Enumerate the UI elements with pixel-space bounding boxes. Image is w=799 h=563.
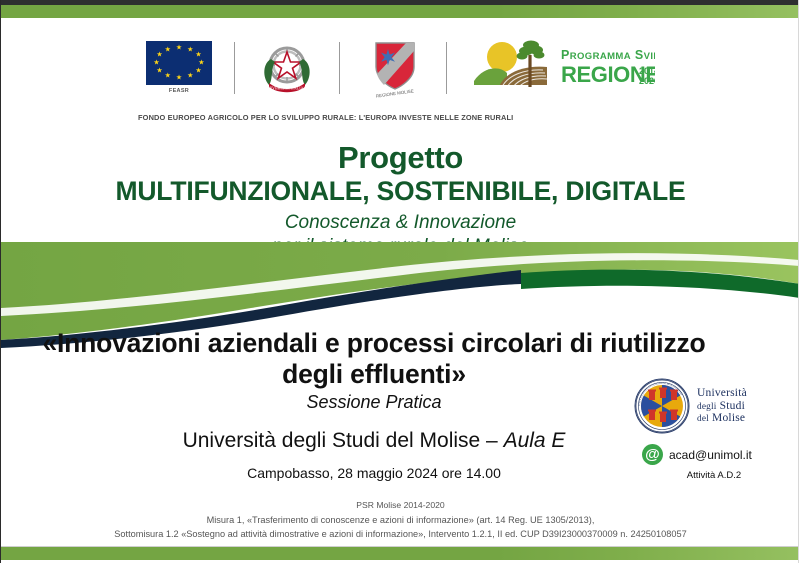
project-subtitle-line2: per il sistema rurale del Molise <box>1 236 799 258</box>
unimol-wordmark: Università degli Studi del Molise <box>697 387 747 426</box>
logo-divider-2 <box>339 42 340 94</box>
unimol-crest-icon: UNIVERSITAS STUDIORUM MOLISIENSIS <box>634 378 690 434</box>
footer-line-1: PSR Molise 2014-2020 <box>1 499 799 512</box>
poster-canvas: ★ ★ ★ ★ ★ ★ ★ ★ ★ ★ ★ ★ FEASR <box>0 0 799 563</box>
contact-email-row[interactable]: @ acad@unimol.it <box>642 444 784 465</box>
event-venue: Università degli Studi del Molise – Aula… <box>29 429 719 453</box>
institutional-logo-bar: ★ ★ ★ ★ ★ ★ ★ ★ ★ ★ ★ ★ FEASR <box>1 30 799 105</box>
top-green-band <box>1 5 799 18</box>
repubblica-italiana-logo: REPVBBLICA ITALIANA <box>257 39 317 97</box>
at-icon: @ <box>642 444 663 465</box>
unimol-line3: del Molise <box>697 412 747 425</box>
footer-line-3: Sottomisura 1.2 «Sostegno ad attività di… <box>1 527 799 541</box>
eu-flag-logo: ★ ★ ★ ★ ★ ★ ★ ★ ★ ★ ★ ★ FEASR <box>146 41 212 94</box>
bottom-green-band <box>1 547 799 560</box>
contact-email[interactable]: acad@unimol.it <box>669 448 752 462</box>
project-title: MULTIFUNZIONALE, SOSTENIBILE, DIGITALE <box>1 176 799 207</box>
svg-text:REGIONE MOLISE: REGIONE MOLISE <box>376 88 414 98</box>
logo-divider-1 <box>234 42 235 94</box>
svg-text:REPVBBLICA ITALIANA: REPVBBLICA ITALIANA <box>265 85 310 90</box>
venue-institution: Università degli Studi del Molise – <box>183 429 504 452</box>
event-datetime: Campobasso, 28 maggio 2024 ore 14.00 <box>29 465 719 481</box>
repubblica-italiana-emblem-icon: REPVBBLICA ITALIANA <box>257 39 317 97</box>
svg-text:2020: 2020 <box>639 76 655 86</box>
footer-line-2: Misura 1, «Trasferimento di conoscenze e… <box>1 513 799 527</box>
project-label: Progetto <box>1 140 799 176</box>
psr-molise-icon: PROGRAMMA SVILUPPO RURALE REGIONE MOLISE… <box>469 37 655 99</box>
activity-code: Attività A.D.2 <box>644 470 784 481</box>
unimol-line2: degli Studi <box>697 400 747 413</box>
event-session: Sessione Pratica <box>29 392 719 413</box>
svg-text:PROGRAMMA SVILUPPO RURALE: PROGRAMMA SVILUPPO RURALE <box>561 48 655 62</box>
eu-flag-icon: ★ ★ ★ ★ ★ ★ ★ ★ ★ ★ ★ ★ <box>146 41 212 85</box>
logo-divider-3 <box>446 42 447 94</box>
funding-footer: PSR Molise 2014-2020 Misura 1, «Trasferi… <box>1 499 799 541</box>
project-subtitle-line1: Conoscenza & Innovazione <box>1 212 799 234</box>
unimol-block: UNIVERSITAS STUDIORUM MOLISIENSIS Univer… <box>634 378 784 481</box>
psr-regione-molise-logo: PROGRAMMA SVILUPPO RURALE REGIONE MOLISE… <box>469 37 655 99</box>
venue-room: Aula E <box>504 429 566 452</box>
regione-molise-logo: REGIONE MOLISE <box>362 37 424 99</box>
feasr-statement: FONDO EUROPEO AGRICOLO PER LO SVILUPPO R… <box>138 113 668 122</box>
event-title: «Innovazioni aziendali e processi circol… <box>29 328 719 390</box>
regione-molise-shield-icon: REGIONE MOLISE <box>362 37 424 99</box>
svg-text:2014: 2014 <box>639 66 655 76</box>
unimol-line1: Università <box>697 387 747 400</box>
feasr-caption: FEASR <box>169 88 189 94</box>
